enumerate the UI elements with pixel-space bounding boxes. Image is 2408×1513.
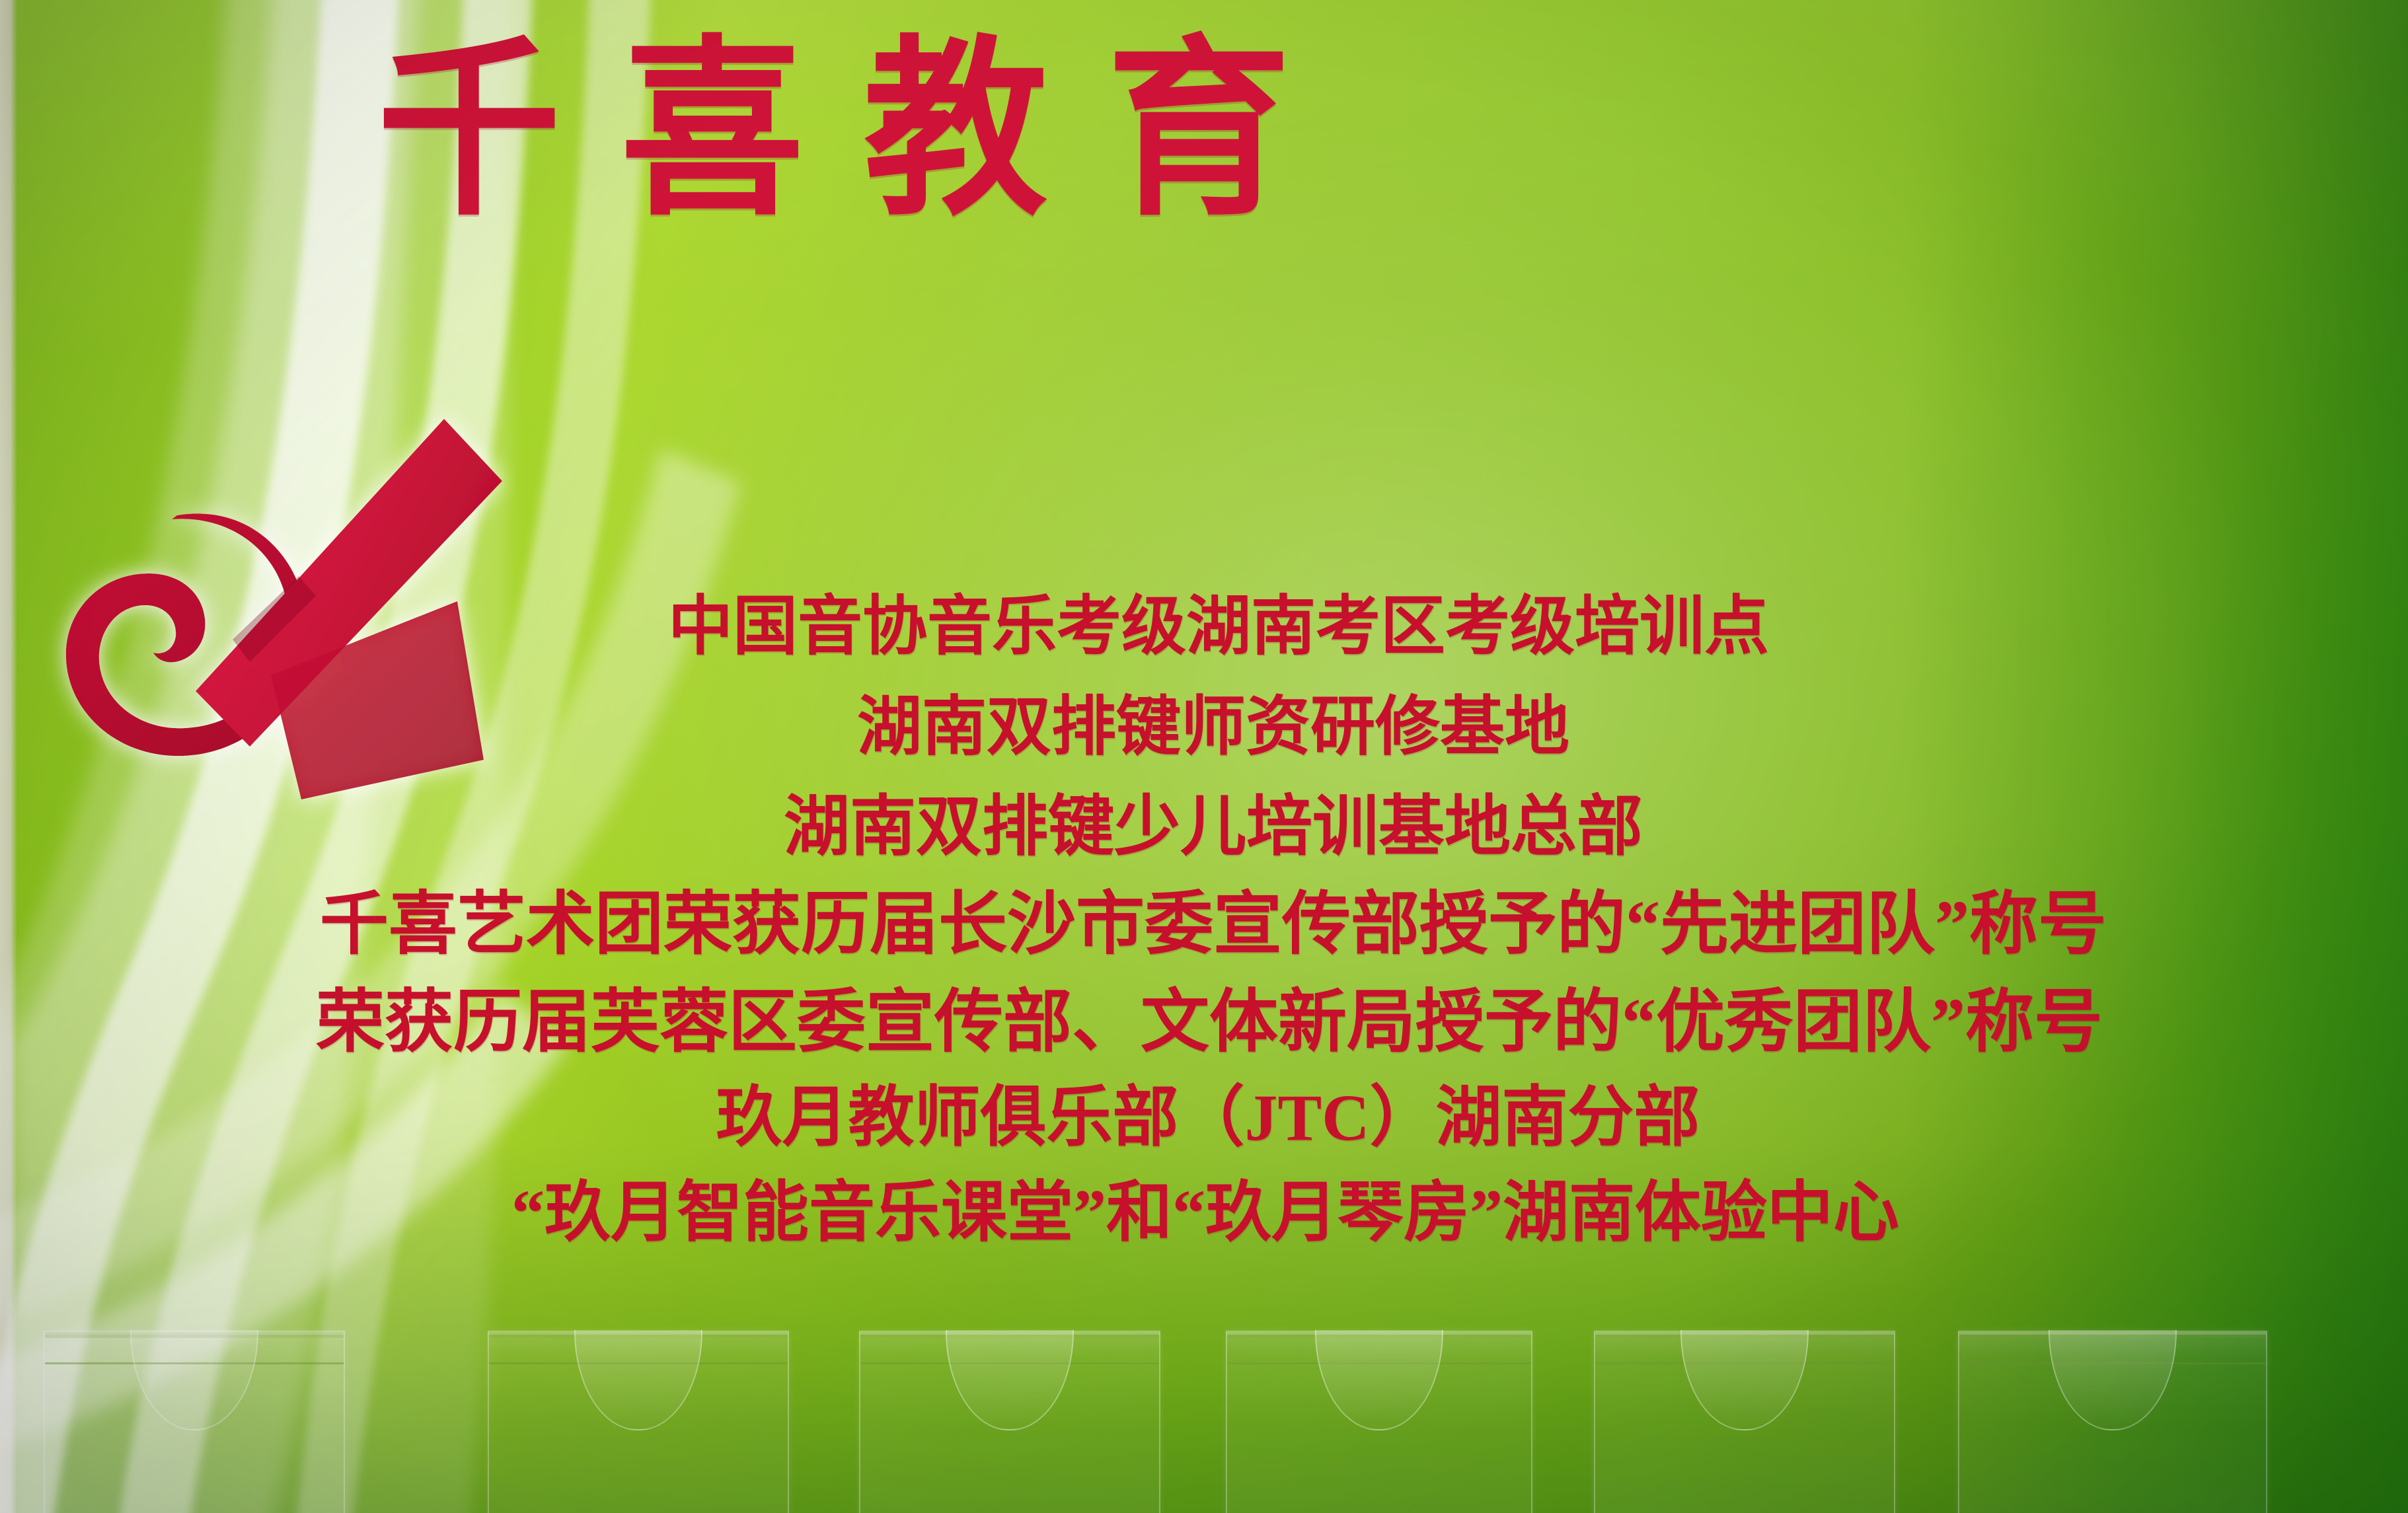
credential-line-5: 荣获历届芙蓉区委宣传部、文体新局授予的“优秀团队”称号 [316,988,2103,1057]
credential-line-1: 中国音协音乐考级湖南考区考级培训点 [668,595,1769,659]
page-title: 千 喜 教 育 [373,33,2065,231]
credential-line-4: 千喜艺术团荣获历届长沙市委宣传部授予的“先进团队”称号 [320,891,2107,959]
credential-line-2: 湖南双排键师资研修基地 [857,695,1569,760]
headline-char-4: 育 [1107,36,1291,228]
credential-list: 中国音协音乐考级湖南考区考级培训点 湖南双排键师资研修基地 湖南双排键少儿培训基… [0,595,2408,1246]
headline-char-1: 千 [377,36,561,228]
credential-line-7: “玖月智能音乐课堂”和“玖月琴房”湖南体验中心 [511,1180,1899,1246]
credential-line-6: 玖月教师俱乐部（JTC）湖南分部 [716,1085,1700,1151]
headline-char-3: 教 [864,36,1047,228]
signboard-photo: 千 喜 教 育 中国音协音乐考级湖南考区考级培训点 湖南双排键师资研修基地 湖南… [0,0,2408,1513]
credential-line-3: 湖南双排键少儿培训基地总部 [784,794,1643,860]
headline-char-2: 喜 [621,36,804,228]
